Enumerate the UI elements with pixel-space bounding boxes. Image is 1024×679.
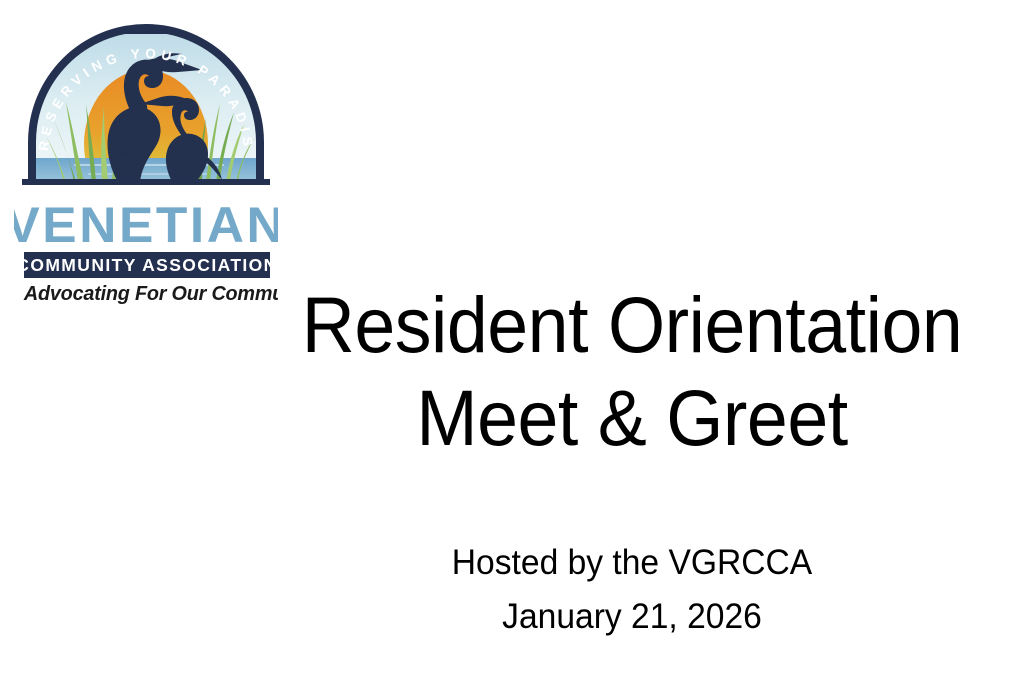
presentation-title-slide: Venetian Community Association logo: two… bbox=[0, 0, 1024, 679]
page-subtitle: Hosted by the VGRCCA January 21, 2026 bbox=[258, 536, 1006, 644]
logo-wordmark: VENETIAN bbox=[14, 197, 278, 253]
title-line-1: Resident Orientation bbox=[284, 278, 980, 371]
title-line-2: Meet & Greet bbox=[284, 371, 980, 464]
subtitle-date: January 21, 2026 bbox=[273, 590, 991, 644]
logo-subwordmark: COMMUNITY ASSOCIATION bbox=[16, 255, 277, 275]
subtitle-host: Hosted by the VGRCCA bbox=[273, 536, 991, 590]
logo-divider-rule bbox=[22, 179, 270, 185]
logo-tagline: Advocating For Our Community bbox=[23, 283, 278, 304]
logo-svg: PRESERVING YOUR PARADISE VENETIAN COMMUN… bbox=[14, 24, 278, 304]
venetian-community-association-logo: Venetian Community Association logo: two… bbox=[14, 24, 278, 304]
page-title: Resident Orientation Meet & Greet bbox=[258, 278, 1006, 464]
